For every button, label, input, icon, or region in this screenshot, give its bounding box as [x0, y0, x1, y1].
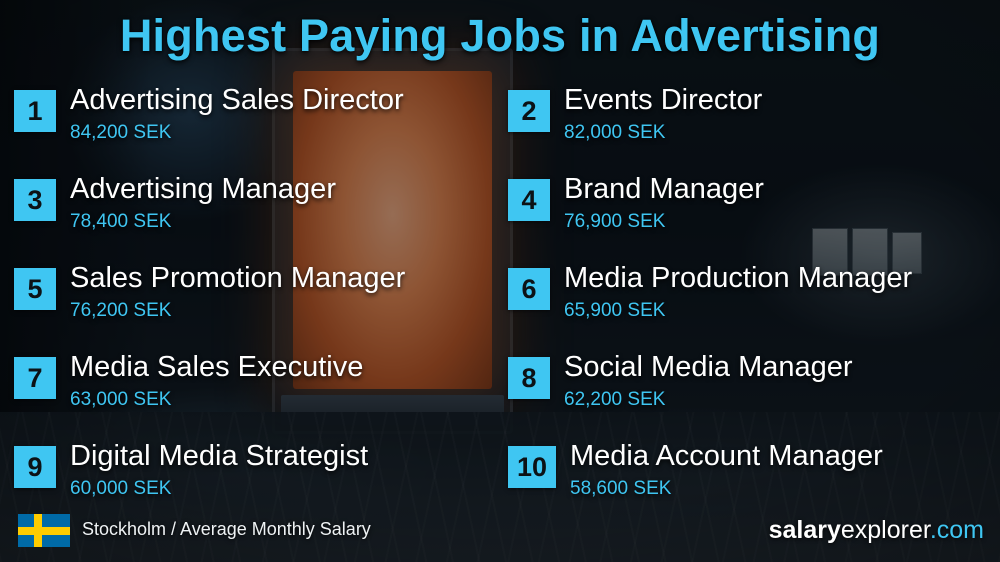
list-item[interactable]: 8 Social Media Manager 62,200 SEK [508, 353, 978, 442]
salary-value: 65,900 SEK [564, 300, 665, 322]
salary-value: 76,900 SEK [564, 211, 665, 233]
job-title: Events Director [564, 84, 762, 117]
brand-logo[interactable]: salaryexplorer.com [769, 516, 984, 545]
list-item[interactable]: 7 Media Sales Executive 63,000 SEK [14, 353, 484, 442]
salary-value: 84,200 SEK [70, 122, 171, 144]
rank-badge: 7 [14, 357, 56, 399]
salary-value: 58,600 SEK [570, 478, 671, 500]
flag-horizontal-stripe [18, 527, 70, 535]
list-item[interactable]: 5 Sales Promotion Manager 76,200 SEK [14, 264, 484, 353]
salary-value: 60,000 SEK [70, 478, 171, 500]
rank-badge: 10 [508, 446, 556, 488]
job-title: Sales Promotion Manager [70, 262, 405, 295]
job-title: Media Production Manager [564, 262, 912, 295]
rank-badge: 8 [508, 357, 550, 399]
list-item[interactable]: 6 Media Production Manager 65,900 SEK [508, 264, 978, 353]
footer-note: Stockholm / Average Monthly Salary [82, 519, 371, 540]
job-title: Social Media Manager [564, 351, 853, 384]
rank-badge: 4 [508, 179, 550, 221]
rank-badge: 6 [508, 268, 550, 310]
brand-part-explorer: explorer [841, 516, 930, 544]
sweden-flag-icon [18, 514, 70, 547]
salary-value: 62,200 SEK [564, 389, 665, 411]
salary-value: 78,400 SEK [70, 211, 171, 233]
job-title: Advertising Manager [70, 173, 336, 206]
list-item[interactable]: 4 Brand Manager 76,900 SEK [508, 175, 978, 264]
salary-value: 82,000 SEK [564, 122, 665, 144]
chart-content: Highest Paying Jobs in Advertising 1 Adv… [0, 0, 1000, 562]
job-title: Advertising Sales Director [70, 84, 404, 117]
job-title: Media Account Manager [570, 440, 883, 473]
job-title: Media Sales Executive [70, 351, 363, 384]
ranking-column-right: 2 Events Director 82,000 SEK 4 Brand Man… [508, 86, 978, 531]
footer: Stockholm / Average Monthly Salary salar… [0, 500, 1000, 562]
list-item[interactable]: 1 Advertising Sales Director 84,200 SEK [14, 86, 484, 175]
rank-badge: 5 [14, 268, 56, 310]
page-title: Highest Paying Jobs in Advertising [0, 10, 1000, 62]
job-title: Digital Media Strategist [70, 440, 368, 473]
rank-badge: 9 [14, 446, 56, 488]
salary-value: 63,000 SEK [70, 389, 171, 411]
rank-badge: 1 [14, 90, 56, 132]
brand-part-salary: salary [769, 516, 841, 544]
brand-part-domain: .com [930, 516, 984, 544]
salary-value: 76,200 SEK [70, 300, 171, 322]
ranking-column-left: 1 Advertising Sales Director 84,200 SEK … [14, 86, 484, 531]
rank-badge: 2 [508, 90, 550, 132]
list-item[interactable]: 2 Events Director 82,000 SEK [508, 86, 978, 175]
job-title: Brand Manager [564, 173, 764, 206]
list-item[interactable]: 3 Advertising Manager 78,400 SEK [14, 175, 484, 264]
rank-badge: 3 [14, 179, 56, 221]
